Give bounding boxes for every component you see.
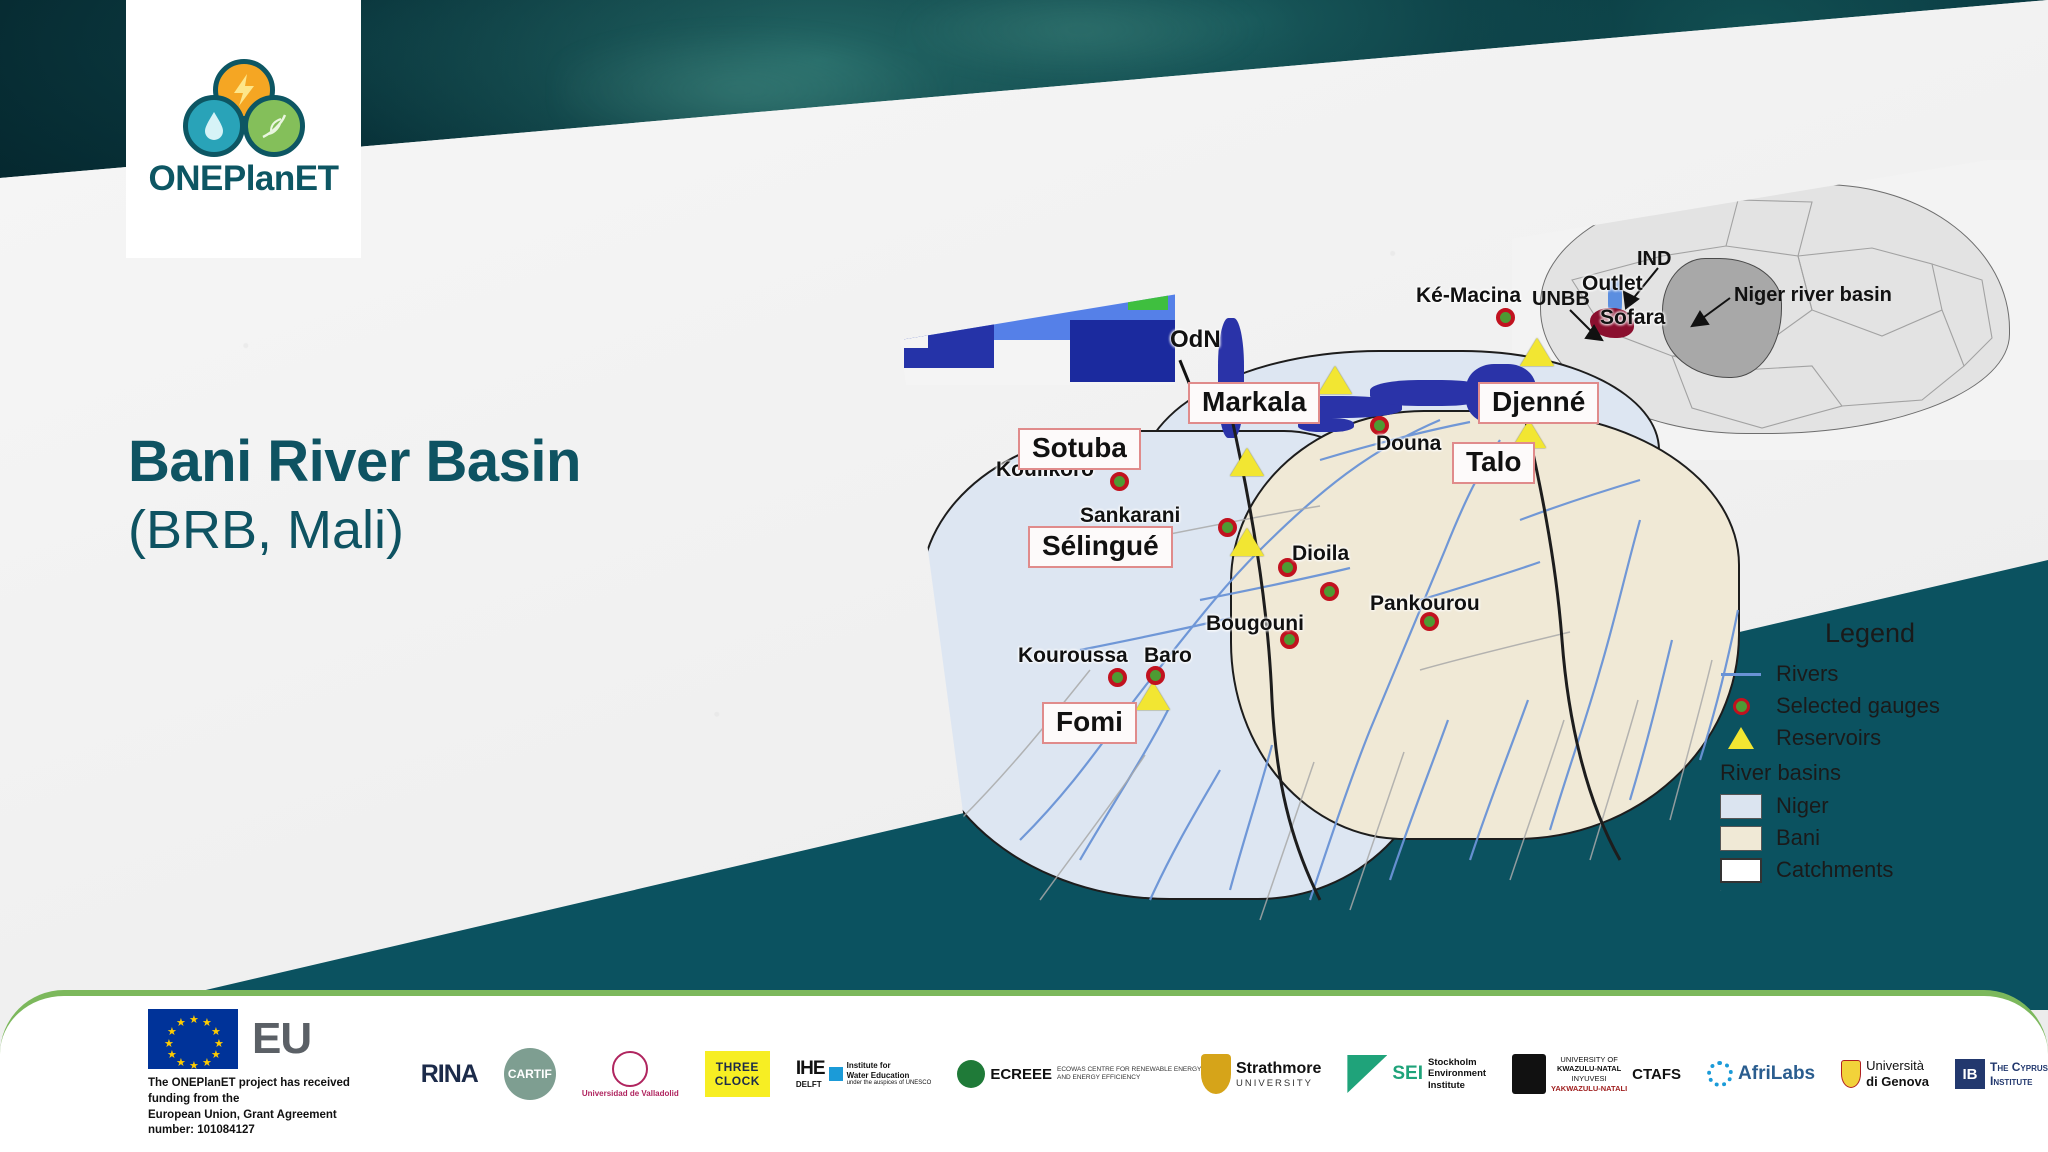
rina-label: RINA bbox=[421, 1060, 478, 1089]
partner-logo-rina: RINA bbox=[421, 1060, 478, 1089]
ukzn-emblem-icon bbox=[1512, 1054, 1546, 1094]
partner-logo-ecreee: ECREEE ECOWAS CENTRE FOR RENEWABLE ENERG… bbox=[957, 1060, 1175, 1088]
koppen-zone-green bbox=[1128, 210, 1168, 310]
afrilabs-label: AfriLabs bbox=[1738, 1063, 1815, 1085]
ihe-sub1: Institute for bbox=[847, 1061, 932, 1070]
eu-logo: ★ ★ ★ ★ ★ ★ ★ ★ ★ ★ ★ ★ EU bbox=[148, 1009, 361, 1069]
sei-sub3: Institute bbox=[1428, 1080, 1486, 1091]
funding-note: The ONEPlanET project has received fundi… bbox=[148, 1076, 361, 1138]
label-box-talo: Talo bbox=[1452, 442, 1535, 484]
label-ke-macina: Ké-Macina bbox=[1416, 284, 1521, 308]
genova-crest-icon bbox=[1841, 1060, 1861, 1088]
catchments-swatch bbox=[1720, 858, 1762, 883]
genova-sub1: Università bbox=[1866, 1058, 1929, 1074]
sei-label: SEI bbox=[1392, 1063, 1423, 1085]
partner-logo-cyprus-institute: IB The Cyprus Institute bbox=[1955, 1059, 2048, 1089]
funding-note-line1: The ONEPlanET project has received fundi… bbox=[148, 1076, 361, 1107]
strathmore-crest-icon bbox=[1201, 1054, 1231, 1094]
koppen-title: ppen-Geiger) bbox=[1059, 152, 1171, 174]
label-sofara: Sofara bbox=[1600, 306, 1665, 330]
eu-label: EU bbox=[252, 1014, 311, 1064]
uva-seal-icon bbox=[612, 1051, 648, 1087]
legend-label-reservoirs: Reservoirs bbox=[1776, 725, 1881, 751]
reservoir-marker-djenne bbox=[1520, 338, 1554, 366]
ecreee-sub1: ECOWAS CENTRE FOR RENEWABLE ENERGY bbox=[1057, 1066, 1175, 1074]
wheat-leaf-icon bbox=[243, 95, 305, 157]
ihe-square-icon bbox=[829, 1067, 843, 1081]
koppen-zone-bsh bbox=[910, 250, 1175, 288]
three-label: THREE bbox=[716, 1060, 759, 1074]
partner-logo-uva: Universidad de Valladolid bbox=[582, 1051, 679, 1098]
ihe-sub3: under the auspices of UNESCO bbox=[847, 1080, 932, 1087]
legend-item-reservoirs: Reservoirs bbox=[1720, 722, 2020, 754]
logo-marks bbox=[179, 59, 309, 157]
koppen-label-aw: Aw bbox=[1018, 298, 1041, 318]
gauge-marker-ke-macina bbox=[1496, 308, 1515, 327]
river-line-symbol bbox=[1720, 673, 1762, 676]
cartif-label: CARTIF bbox=[504, 1048, 556, 1100]
partner-logo-ihe-delft: IHE DELFT Institute for Water Education … bbox=[796, 1058, 931, 1089]
legend-item-clipped bbox=[1720, 886, 2020, 918]
ukzn-label: KWAZULU-NATAL bbox=[1551, 1064, 1627, 1074]
legend-item-bani: Bani bbox=[1720, 822, 2020, 854]
legend-label-bani: Bani bbox=[1776, 825, 1820, 851]
cyprus-sub1: The Cyprus bbox=[1990, 1060, 2048, 1074]
map-legend: Legend Rivers Selected gauges Reservoirs… bbox=[1720, 618, 2020, 918]
sei-sub2: Environment bbox=[1428, 1068, 1486, 1079]
eu-funding-block: ★ ★ ★ ★ ★ ★ ★ ★ ★ ★ ★ ★ EU The ONEPlanET… bbox=[148, 1009, 361, 1138]
gauge-marker-sankarani bbox=[1218, 518, 1237, 537]
ukzn-sub1: UNIVERSITY OF bbox=[1551, 1055, 1627, 1065]
page-title: Bani River Basin bbox=[128, 432, 581, 493]
label-box-markala: Markala bbox=[1188, 382, 1320, 424]
ctafs-label: CTAFS bbox=[1632, 1066, 1681, 1083]
legend-group-river-basins: River basins bbox=[1720, 760, 2020, 786]
label-kouroussa: Kouroussa bbox=[1018, 644, 1128, 668]
gauge-marker-midbani bbox=[1320, 582, 1339, 601]
partner-logo-sei: SEI Stockholm Environment Institute bbox=[1347, 1055, 1486, 1093]
reservoir-marker-markala bbox=[1318, 366, 1352, 394]
ecreee-emblem-icon bbox=[957, 1060, 985, 1088]
partner-logo-strathmore: Strathmore UNIVERSITY bbox=[1201, 1054, 1321, 1094]
partner-logo-afrilabs: AfriLabs bbox=[1707, 1061, 1815, 1087]
partner-logo-cartif: CARTIF bbox=[504, 1048, 556, 1100]
ihe-sub2: Water Education bbox=[847, 1071, 932, 1080]
oneplanet-logo: ONEPlanET bbox=[126, 0, 361, 258]
reservoir-triangle-symbol bbox=[1720, 727, 1762, 749]
logo-wordmark: ONEPlanET bbox=[149, 159, 339, 199]
koppen-label-bwh: BWh bbox=[1008, 228, 1045, 248]
strathmore-label: Strathmore bbox=[1236, 1060, 1321, 1078]
water-drop-icon bbox=[183, 95, 245, 157]
label-douna: Douna bbox=[1376, 432, 1441, 456]
figure-clip: ppen-Geiger) BWh BSh Aw Am bbox=[900, 150, 2048, 940]
cyprus-label: Institute bbox=[1990, 1074, 2048, 1088]
niger-swatch bbox=[1720, 794, 1762, 819]
label-pankourou: Pankourou bbox=[1370, 592, 1480, 616]
label-sankarani: Sankarani bbox=[1080, 504, 1180, 528]
koppen-basin-outline bbox=[947, 255, 1009, 309]
legend-item-niger: Niger bbox=[1720, 790, 2020, 822]
presentation-slide: ONEPlanET Bani River Basin (BRB, Mali) p… bbox=[0, 0, 2048, 1152]
label-baro: Baro bbox=[1144, 644, 1192, 668]
label-bougouni: Bougouni bbox=[1206, 612, 1304, 636]
ihe-label: IHE bbox=[796, 1058, 825, 1080]
legend-label-niger: Niger bbox=[1776, 793, 1829, 819]
label-dioila: Dioila bbox=[1292, 542, 1349, 566]
ukzn-sub3: INYUVESI bbox=[1551, 1074, 1627, 1084]
legend-label-gauges: Selected gauges bbox=[1776, 693, 1940, 719]
gauge-dot-symbol bbox=[1720, 698, 1762, 715]
label-box-djenne: Djenné bbox=[1478, 382, 1599, 424]
sei-sub1: Stockholm bbox=[1428, 1057, 1486, 1068]
oclock-label: CLOCK bbox=[715, 1074, 760, 1088]
partner-logo-genova: Università di Genova bbox=[1841, 1058, 1929, 1089]
legend-item-rivers: Rivers bbox=[1720, 658, 2020, 690]
clipped-swatch bbox=[1720, 890, 1762, 915]
cyprus-mark-icon: IB bbox=[1955, 1059, 1985, 1089]
gauge-marker-baro bbox=[1146, 666, 1165, 685]
sei-mark-icon bbox=[1347, 1055, 1387, 1093]
legend-label-rivers: Rivers bbox=[1776, 661, 1838, 687]
partner-logos: RINA CARTIF Universidad de Valladolid TH… bbox=[421, 1048, 2048, 1100]
partner-logo-ukzn: UNIVERSITY OF KWAZULU-NATAL INYUVESI YAK… bbox=[1512, 1054, 1681, 1094]
koppen-zone-bwh bbox=[908, 178, 1175, 256]
afrilabs-mark-icon bbox=[1707, 1061, 1733, 1087]
reservoir-marker-sotuba bbox=[1230, 448, 1264, 476]
genova-label: di Genova bbox=[1866, 1074, 1929, 1090]
map-figure: ppen-Geiger) BWh BSh Aw Am bbox=[900, 150, 2048, 940]
partner-logo-three-oclock: THREE CLOCK bbox=[705, 1051, 770, 1097]
uva-label: Universidad de Valladolid bbox=[582, 1089, 679, 1098]
slide-footer: ★ ★ ★ ★ ★ ★ ★ ★ ★ ★ ★ ★ EU The ONEPlanET… bbox=[0, 990, 2048, 1152]
koppen-ocean bbox=[900, 178, 928, 348]
legend-item-gauges: Selected gauges bbox=[1720, 690, 2020, 722]
koppen-label-bsh: BSh bbox=[1028, 262, 1060, 282]
gauge-marker-koulikoro bbox=[1110, 472, 1129, 491]
bani-swatch bbox=[1720, 826, 1762, 851]
gauge-marker-kouroussa bbox=[1108, 668, 1127, 687]
legend-item-catchments: Catchments bbox=[1720, 854, 2020, 886]
ecreee-sub2: AND ENERGY EFFICIENCY bbox=[1057, 1074, 1175, 1082]
funding-note-line2: European Union, Grant Agreement number: … bbox=[148, 1108, 361, 1139]
ecreee-label: ECREEE bbox=[990, 1066, 1052, 1083]
label-box-sotuba: Sotuba bbox=[1018, 428, 1141, 470]
title-block: Bani River Basin (BRB, Mali) bbox=[128, 432, 581, 561]
legend-label-catchments: Catchments bbox=[1776, 857, 1893, 883]
label-box-selingue: Sélingué bbox=[1028, 526, 1173, 568]
strathmore-university-label: UNIVERSITY bbox=[1236, 1078, 1321, 1089]
legend-title: Legend bbox=[1720, 618, 2020, 649]
eu-flag-icon: ★ ★ ★ ★ ★ ★ ★ ★ ★ ★ ★ ★ bbox=[148, 1009, 238, 1069]
page-subtitle: (BRB, Mali) bbox=[128, 499, 581, 561]
label-odn: OdN bbox=[1170, 326, 1221, 354]
ukzn-sub4: YAKWAZULU-NATALI bbox=[1551, 1084, 1627, 1094]
label-box-fomi: Fomi bbox=[1042, 702, 1137, 744]
delft-label: DELFT bbox=[796, 1080, 825, 1089]
reservoir-marker-fomi bbox=[1136, 682, 1170, 710]
label-outlet: Outlet bbox=[1582, 272, 1643, 296]
